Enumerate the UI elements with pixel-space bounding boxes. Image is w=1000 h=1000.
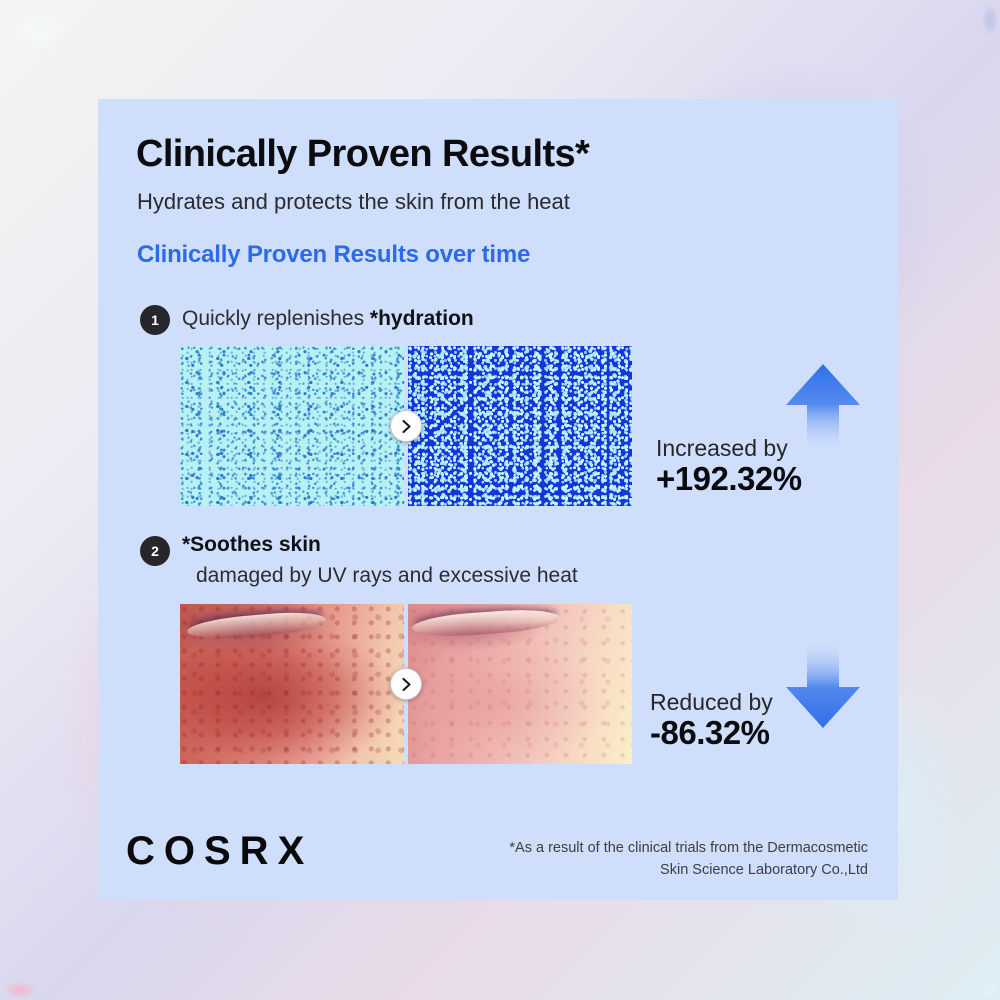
hydration-after-image bbox=[408, 346, 632, 506]
chevron-right-icon[interactable] bbox=[390, 668, 422, 700]
cosrx-logo: COSRX bbox=[126, 829, 313, 874]
footer-disclaimer-line-2: Skin Science Laboratory Co.,Ltd bbox=[509, 859, 868, 881]
footer-disclaimer-line-1: *As a result of the clinical trials from… bbox=[509, 837, 868, 859]
soothing-stat-value: -86.32% bbox=[650, 714, 773, 753]
soothing-stat-label: Reduced by bbox=[650, 691, 773, 714]
item-number-badge-1: 1 bbox=[140, 305, 170, 335]
arrow-down-icon bbox=[784, 639, 862, 731]
hydration-before-image bbox=[180, 346, 404, 506]
chevron-right-icon[interactable] bbox=[390, 410, 422, 442]
skin-after-image bbox=[408, 604, 632, 764]
skin-before-image bbox=[180, 604, 404, 764]
footer-disclaimer: *As a result of the clinical trials from… bbox=[509, 837, 868, 881]
item-1-text-emphasis: *hydration bbox=[370, 307, 474, 330]
hydration-comparison-slider[interactable] bbox=[180, 346, 632, 506]
item-1-text-prefix: Quickly replenishes bbox=[182, 307, 370, 330]
hydration-stat: Increased by +192.32% bbox=[656, 437, 802, 499]
item-2-text-emphasis: *Soothes skin bbox=[182, 533, 321, 556]
soothing-comparison-slider[interactable] bbox=[180, 604, 632, 764]
item-2-text-line2: damaged by UV rays and excessive heat bbox=[196, 560, 578, 591]
item-number-badge-2: 2 bbox=[140, 536, 170, 566]
soothing-stat: Reduced by -86.32% bbox=[650, 691, 773, 753]
section-heading: Clinically Proven Results over time bbox=[137, 241, 530, 269]
page-title: Clinically Proven Results* bbox=[136, 133, 589, 176]
results-card: Clinically Proven Results* Hydrates and … bbox=[98, 99, 898, 900]
item-label-2: *Soothes skin damaged by UV rays and exc… bbox=[182, 529, 578, 591]
page-subtitle: Hydrates and protects the skin from the … bbox=[137, 189, 570, 215]
item-label-1: Quickly replenishes *hydration bbox=[182, 307, 474, 331]
hydration-stat-value: +192.32% bbox=[656, 460, 802, 499]
hydration-stat-label: Increased by bbox=[656, 437, 802, 460]
